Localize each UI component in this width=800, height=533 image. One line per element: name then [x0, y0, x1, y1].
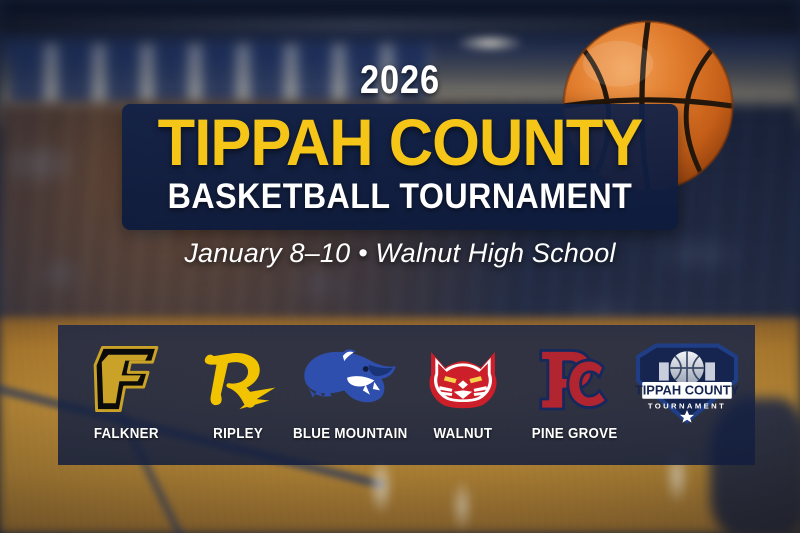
walnut-wildcat-logo: [424, 341, 502, 417]
pine-grove-pc-logo: [535, 341, 615, 417]
event-date-venue: January 8–10 • Walnut High School: [0, 238, 800, 269]
falkner-f-logo: [89, 341, 163, 417]
team-falkner: FALKNER: [72, 337, 180, 453]
page-subtitle: BASKETBALL TOURNAMENT: [144, 178, 656, 216]
ripley-script-r-logo: [195, 341, 281, 417]
year-label: 2026: [56, 58, 744, 103]
page-title: TIPPAH COUNTY: [141, 110, 658, 174]
tournament-poster: 2026 TIPPAH COUNTY BASKETBALL TOURNAMENT…: [0, 0, 800, 533]
team-walnut: WALNUT: [409, 337, 517, 453]
team-label: RIPLEY: [213, 426, 263, 442]
team-logo-strip: FALKNER RIPLEY: [58, 325, 755, 465]
blue-mountain-panther-logo: [300, 341, 400, 417]
team-label: FALKNER: [94, 426, 159, 442]
tippah-county-tournament-badge: TIPPAH COUNTY TOURNAMENT: [633, 337, 741, 453]
badge-line1: TIPPAH COUNTY: [635, 382, 740, 397]
badge-line2: TOURNAMENT: [648, 402, 726, 411]
team-label: WALNUT: [433, 426, 492, 442]
team-pine-grove: PINE GROVE: [521, 337, 629, 453]
team-label: BLUE MOUNTAIN: [293, 426, 407, 442]
team-ripley: RIPLEY: [184, 337, 292, 453]
title-banner: TIPPAH COUNTY BASKETBALL TOURNAMENT: [122, 104, 678, 230]
team-label: PINE GROVE: [532, 426, 618, 442]
team-blue-mountain: BLUE MOUNTAIN: [296, 337, 404, 453]
